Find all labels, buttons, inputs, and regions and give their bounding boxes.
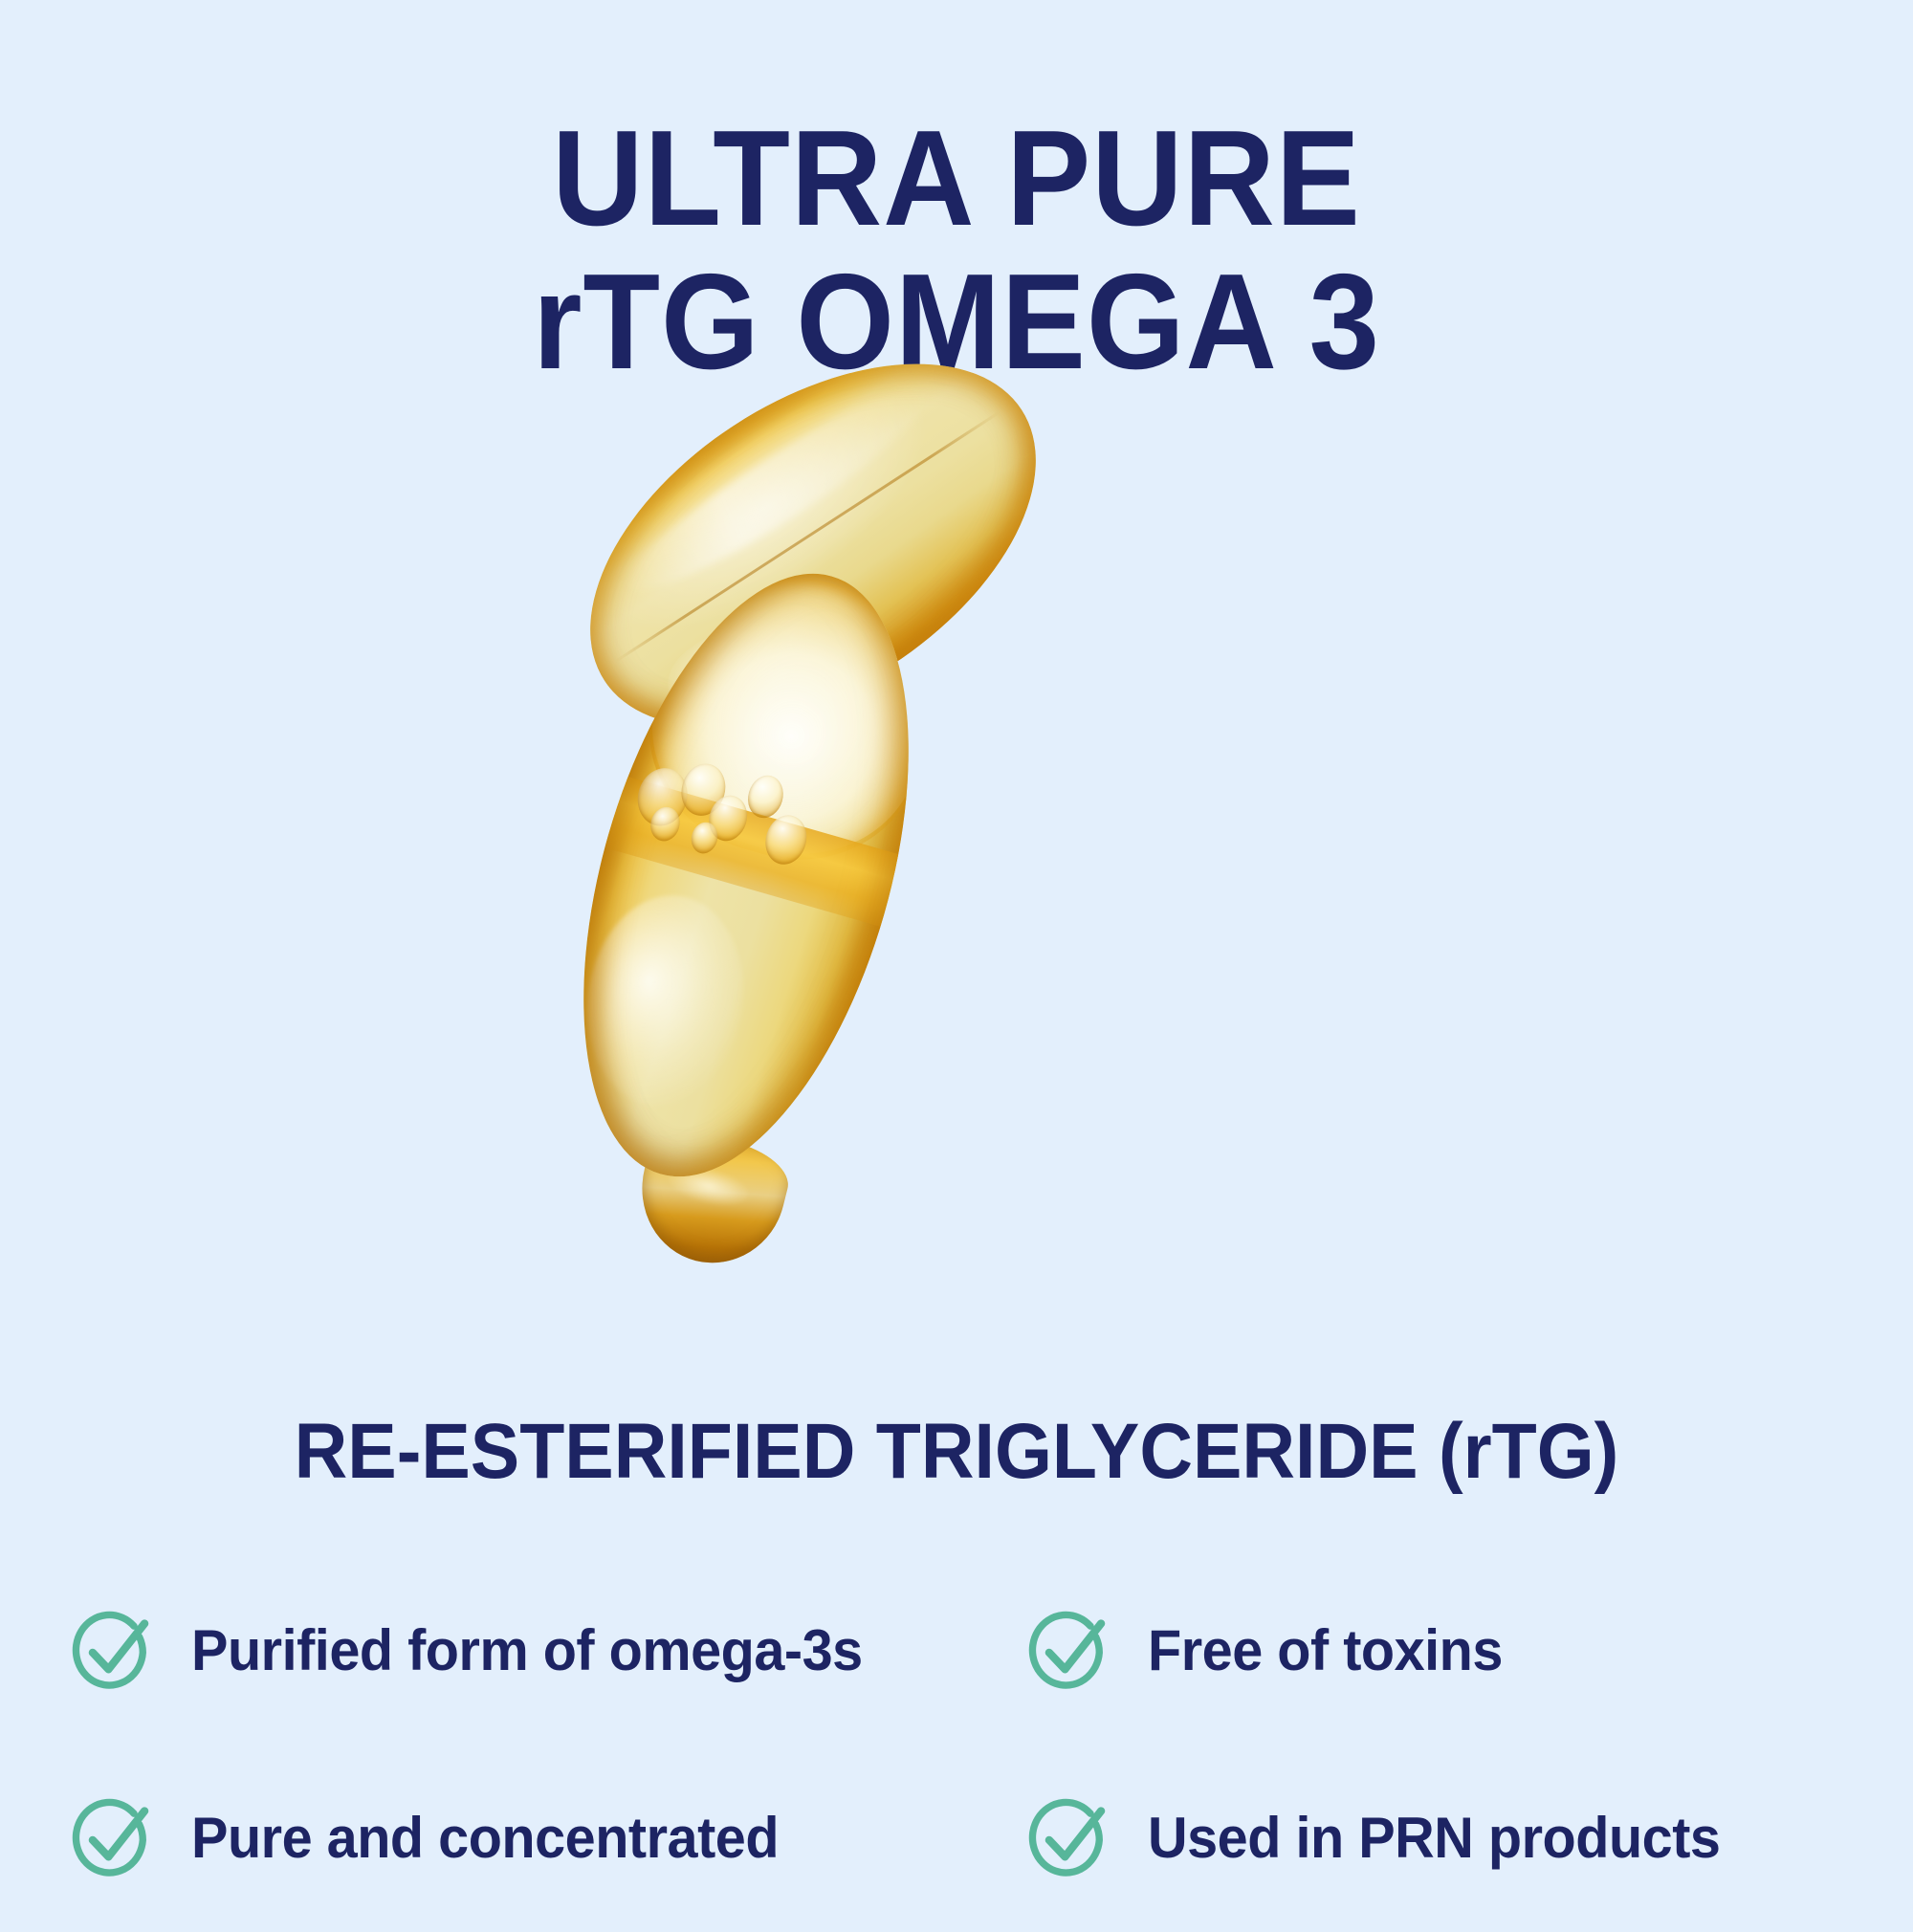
feature-label: Free of toxins bbox=[1148, 1619, 1503, 1682]
check-circle-icon bbox=[69, 1794, 157, 1882]
feature-item: Pure and concentrated bbox=[69, 1794, 1025, 1882]
hero-capsule-illustration bbox=[0, 411, 1913, 1387]
check-circle-icon bbox=[1025, 1607, 1113, 1695]
feature-label: Pure and concentrated bbox=[191, 1807, 779, 1870]
feature-item: Purified form of omega-3s bbox=[69, 1607, 1025, 1695]
feature-item: Used in PRN products bbox=[1025, 1794, 1867, 1882]
subtitle: RE-ESTERIFIED TRIGLYCERIDE (rTG) bbox=[57, 1408, 1856, 1496]
check-circle-icon bbox=[1025, 1794, 1113, 1882]
title-line-1: ULTRA PURE bbox=[67, 107, 1846, 251]
check-circle-icon bbox=[69, 1607, 157, 1695]
feature-list: Purified form of omega-3s Free of toxins… bbox=[69, 1557, 1867, 1932]
page-title: ULTRA PURE rTG OMEGA 3 bbox=[0, 107, 1913, 394]
feature-label: Used in PRN products bbox=[1148, 1807, 1720, 1870]
feature-item: Free of toxins bbox=[1025, 1607, 1867, 1695]
promo-graphic: ULTRA PURE rTG OMEGA 3 bbox=[0, 0, 1913, 1913]
feature-label: Purified form of omega-3s bbox=[191, 1619, 863, 1682]
